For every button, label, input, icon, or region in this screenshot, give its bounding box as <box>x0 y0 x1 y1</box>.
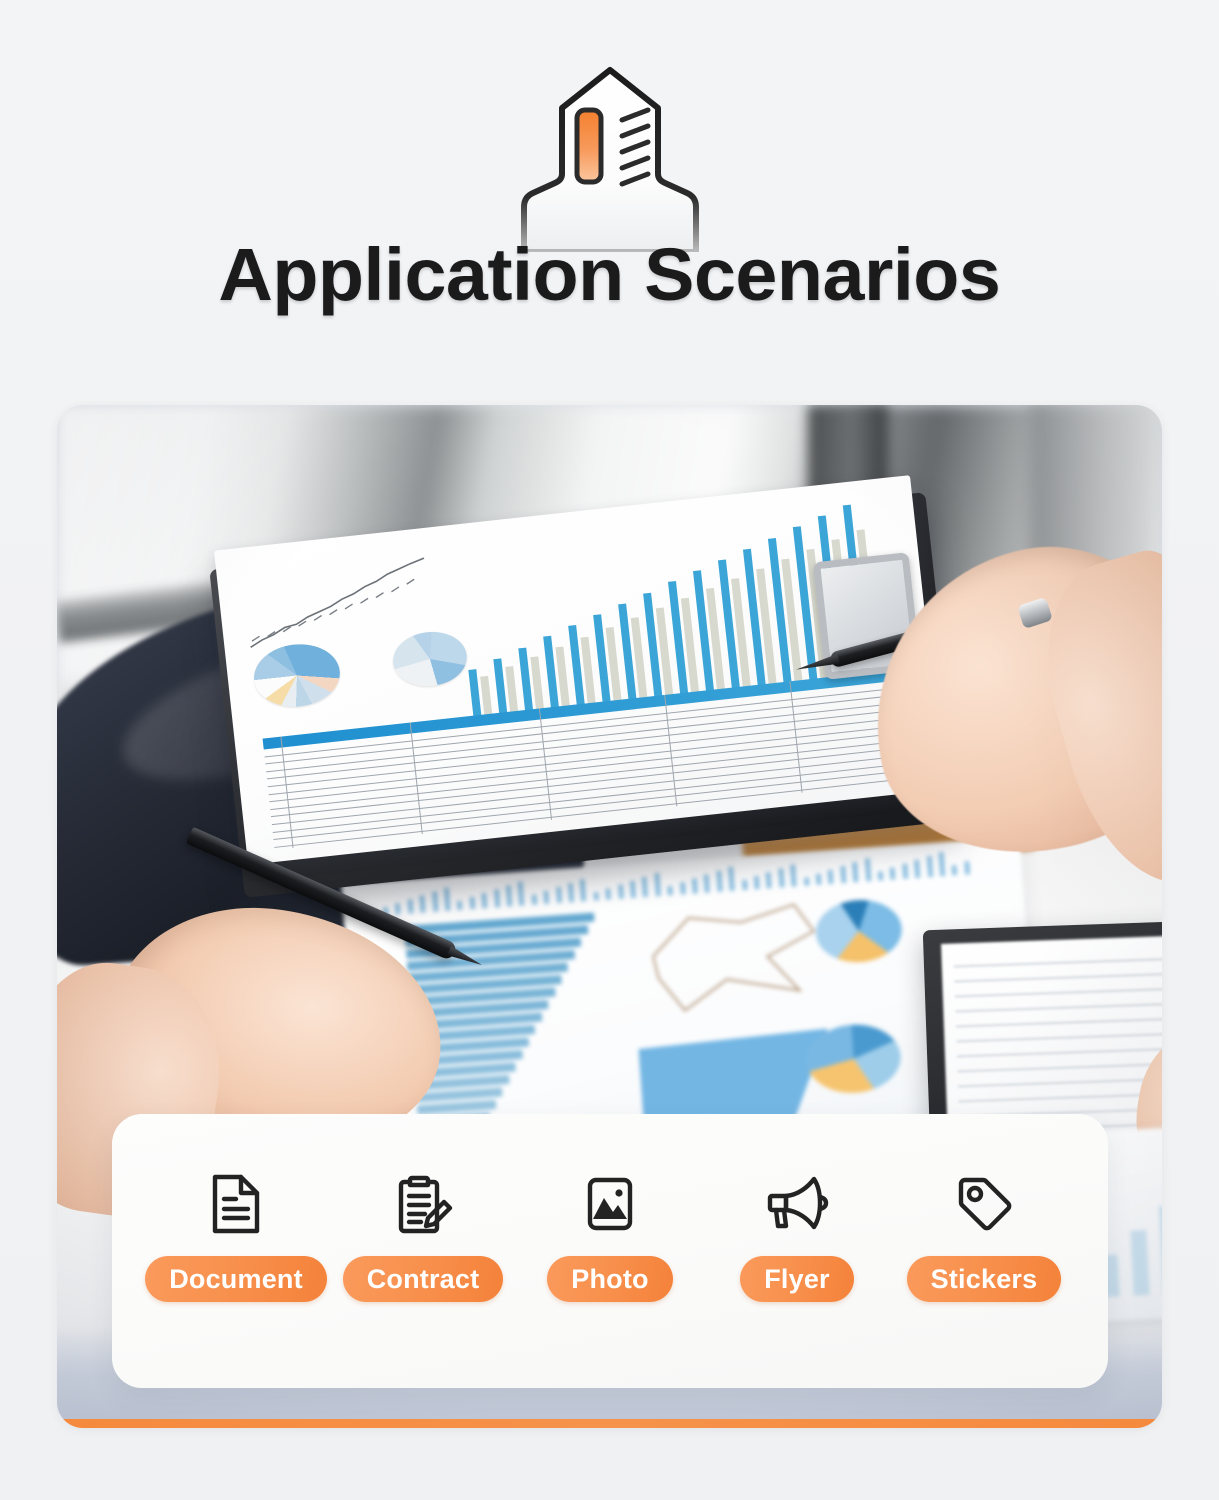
scenario-chip-label[interactable]: Photo <box>547 1256 672 1302</box>
foreground-tick <box>742 880 748 890</box>
image-icon <box>574 1168 646 1240</box>
foreground-tick <box>506 885 512 906</box>
foreground-tick <box>407 899 413 913</box>
tag-icon <box>948 1168 1020 1240</box>
foreground-tick <box>531 895 537 905</box>
foreground-tick <box>518 881 525 905</box>
scenario-chip-label[interactable]: Contract <box>343 1256 504 1302</box>
background-paper-bar <box>1159 1205 1162 1294</box>
foreground-tick <box>580 879 587 901</box>
foreground-tick <box>754 876 760 889</box>
foreground-tick <box>914 860 920 878</box>
foreground-tick <box>667 886 673 895</box>
foreground-tick <box>790 864 797 886</box>
foreground-tick <box>840 866 846 883</box>
foreground-tick <box>618 884 624 898</box>
page-root: Application Scenarios <box>0 0 1219 1500</box>
foreground-tick <box>654 873 661 896</box>
foreground-tick <box>716 871 722 892</box>
foreground-tick <box>964 861 970 874</box>
secondary-paper-line <box>956 1017 1162 1028</box>
foreground-tick <box>704 874 710 892</box>
scenario-chip-document[interactable]: Document <box>146 1168 326 1302</box>
photo-accent-bar <box>57 1419 1162 1428</box>
foreground-tick <box>469 897 475 909</box>
foreground-tick <box>680 882 686 894</box>
foreground-tick <box>420 895 426 912</box>
secondary-paper-line <box>959 1092 1162 1103</box>
foreground-tick <box>543 891 549 904</box>
foreground-tick <box>852 862 858 882</box>
scenario-chip-flyer[interactable]: Flyer <box>707 1168 887 1302</box>
foreground-tick <box>878 871 884 880</box>
secondary-paper-line <box>954 957 1162 968</box>
foreground-tick <box>828 870 834 884</box>
foreground-tick <box>939 852 946 876</box>
foreground-tick <box>864 858 871 881</box>
secondary-paper-line <box>955 987 1162 998</box>
foreground-tick <box>605 888 611 899</box>
foreground-tick <box>444 888 451 911</box>
scenario-chips-panel: Document Contract <box>112 1114 1108 1388</box>
scenario-chip-label[interactable]: Document <box>145 1256 327 1302</box>
foreground-tick <box>728 867 735 891</box>
foreground-tick <box>593 892 599 900</box>
secondary-paper-line <box>957 1062 1162 1073</box>
foreground-tick <box>926 856 932 877</box>
foreground-tick <box>630 881 636 898</box>
foreground-tick <box>778 868 784 887</box>
foreground-tick <box>902 864 908 879</box>
scenario-chip-label[interactable]: Stickers <box>907 1256 1062 1302</box>
clipboard-pencil-icon <box>387 1168 459 1240</box>
secondary-paper-line <box>956 1032 1162 1043</box>
scenario-chip-photo[interactable]: Photo <box>520 1168 700 1302</box>
foreground-tick <box>568 883 574 902</box>
secondary-paper-line <box>958 1077 1162 1088</box>
foreground-tick <box>804 878 810 886</box>
foreground-tick <box>692 878 698 893</box>
foreground-tick <box>481 893 487 908</box>
page-title: Application Scenarios <box>218 238 1000 312</box>
secondary-paper-line <box>955 1002 1162 1013</box>
foreground-tick <box>457 901 463 910</box>
foreground-tick <box>395 903 401 914</box>
foreground-tick <box>494 889 500 907</box>
header: Application Scenarios <box>0 0 1219 392</box>
secondary-paper-line <box>957 1047 1162 1058</box>
foreground-tick <box>432 891 438 911</box>
secondary-paper-line <box>954 972 1162 983</box>
foreground-tick <box>816 874 822 885</box>
foreground-network-chart <box>644 897 832 1029</box>
foreground-tick <box>890 867 896 879</box>
background-paper-bar <box>1130 1230 1149 1296</box>
foreground-tick <box>952 865 958 875</box>
scenario-chip-contract[interactable]: Contract <box>333 1168 513 1302</box>
scenario-chips-row: Document Contract <box>112 1168 1108 1302</box>
foreground-tick <box>556 887 562 903</box>
document-feed-icon <box>502 62 718 252</box>
report-pie-b <box>390 628 469 690</box>
megaphone-icon <box>761 1168 833 1240</box>
scenario-chip-label[interactable]: Flyer <box>740 1256 854 1302</box>
scenario-chip-stickers[interactable]: Stickers <box>894 1168 1074 1302</box>
foreground-tick <box>766 872 772 888</box>
foreground-tick <box>642 877 648 897</box>
document-icon <box>200 1168 272 1240</box>
page-title-row: Application Scenarios <box>0 238 1219 312</box>
